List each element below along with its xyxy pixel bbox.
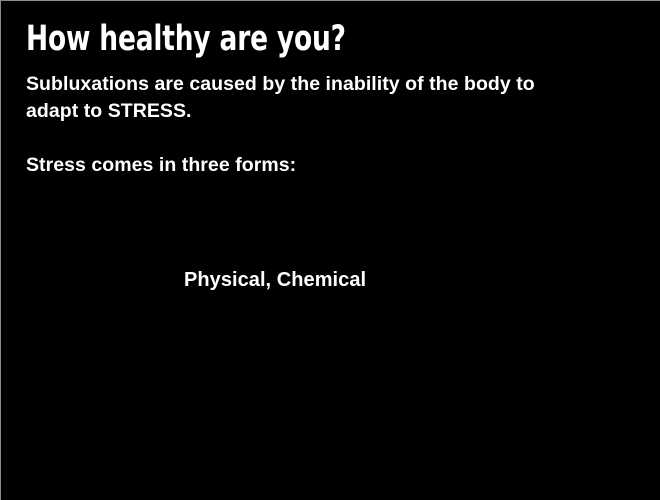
page-title: How healthy are you? — [26, 20, 346, 58]
slide-body-text: Subluxations are caused by the inability… — [26, 71, 606, 179]
presentation-slide: How healthy are you? Subluxations are ca… — [0, 0, 660, 500]
body-blank-line — [26, 125, 606, 152]
slide-content-area: How healthy are you? Subluxations are ca… — [1, 1, 660, 500]
body-paragraph-2-line-1: Stress comes in three forms: — [26, 152, 606, 179]
body-paragraph-1-line-1: Subluxations are caused by the inability… — [26, 71, 606, 98]
body-paragraph-1-line-2: adapt to STRESS. — [26, 98, 606, 125]
body-paragraph-2: Stress comes in three forms: — [26, 152, 606, 179]
body-paragraph-1: Subluxations are caused by the inability… — [26, 71, 606, 125]
stress-forms-listing: Physical, Chemical — [184, 267, 366, 293]
